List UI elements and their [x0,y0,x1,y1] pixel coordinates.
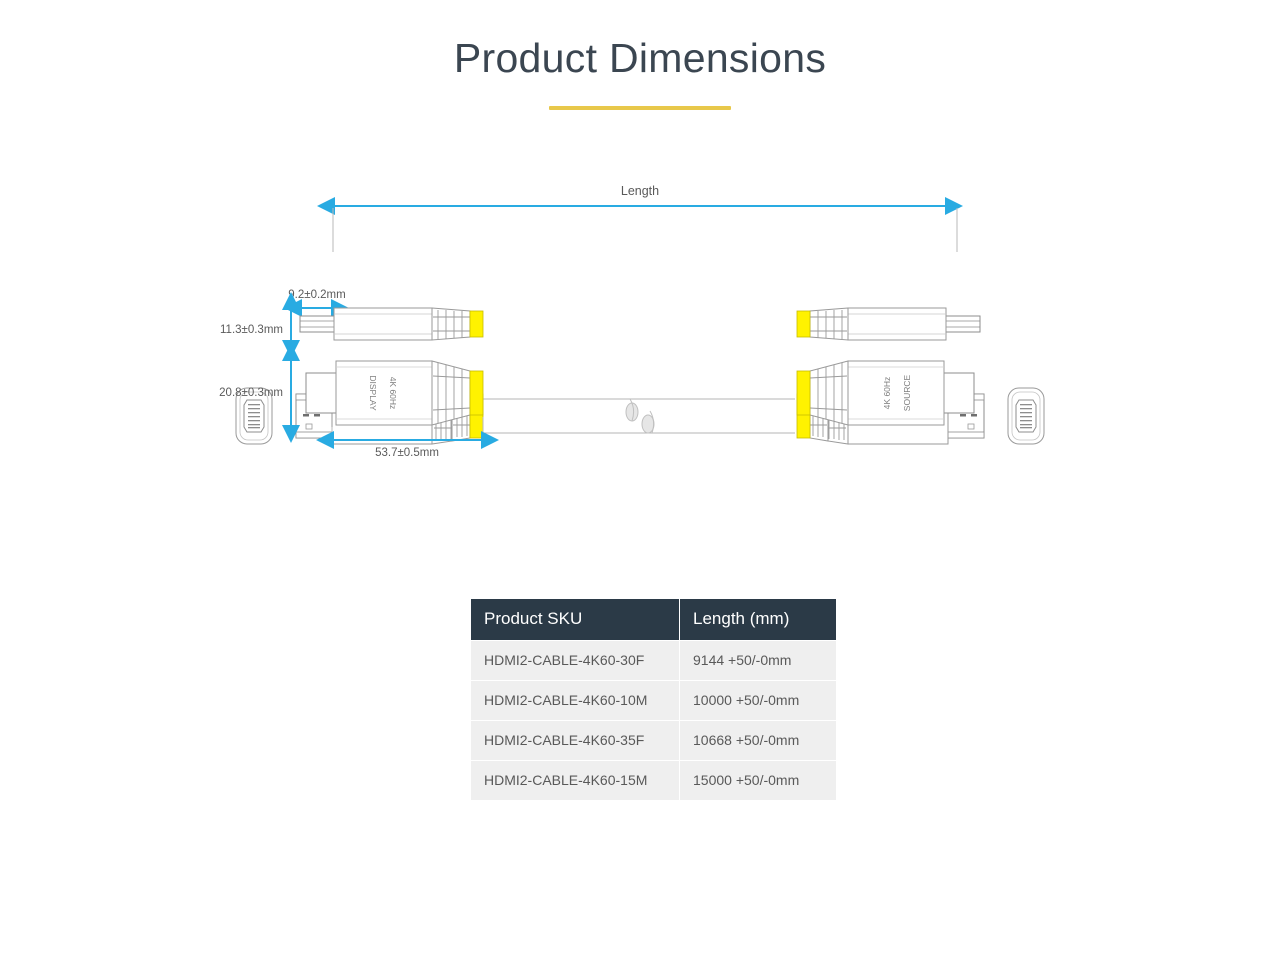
cable-break-symbol [626,399,654,433]
page-header: Product Dimensions [0,38,1280,110]
height-dimension-label: 20.8±0.3mm [219,387,283,399]
table-row: HDMI2-CABLE-4K60-15M 15000 +50/-0mm [471,761,836,800]
table-row: HDMI2-CABLE-4K60-10M 10000 +50/-0mm [471,681,836,720]
table-row: HDMI2-CABLE-4K60-35F 10668 +50/-0mm [471,721,836,760]
hdmi-port-endview-right [1008,388,1044,444]
cell-sku: HDMI2-CABLE-4K60-35F [471,721,680,760]
source-label: SOURCE [902,374,912,411]
cell-length: 10668 +50/-0mm [680,721,836,760]
cable-run [483,399,795,433]
width-dimension-label: 9.2±0.2mm [288,289,345,301]
cell-sku: HDMI2-CABLE-4K60-10M [471,681,680,720]
connector-sideview-right [797,308,980,340]
connector-sideview-left [300,308,483,340]
cell-length: 10000 +50/-0mm [680,681,836,720]
column-header-sku: Product SKU [471,599,680,640]
display-label: DISPLAY [368,375,378,411]
source-spec-label: 4K 60Hz [882,377,892,410]
display-spec-label: 4K 60Hz [388,377,398,410]
product-dimension-diagram: Length StarTech.com [0,160,1280,490]
cell-sku: HDMI2-CABLE-4K60-30F [471,641,680,680]
cell-sku: HDMI2-CABLE-4K60-15M [471,761,680,800]
cell-length: 9144 +50/-0mm [680,641,836,680]
length-dimension-label: Length [621,184,659,198]
title-underline-accent [549,106,731,110]
product-sku-table-container: Product SKU Length (mm) HDMI2-CABLE-4K60… [471,598,809,801]
thickness-dimension: 11.3±0.3mm [220,308,291,342]
cell-length: 15000 +50/-0mm [680,761,836,800]
table-header-row: Product SKU Length (mm) [471,599,836,640]
table-row: HDMI2-CABLE-4K60-30F 9144 +50/-0mm [471,641,836,680]
width-dimension: 9.2±0.2mm [288,289,345,308]
length-dimension: Length [333,184,957,252]
connector-length-label: 53.7±0.5mm [375,447,439,459]
thickness-dimension-label: 11.3±0.3mm [220,324,283,336]
product-sku-table: Product SKU Length (mm) HDMI2-CABLE-4K60… [471,598,836,801]
page-title: Product Dimensions [0,38,1280,79]
column-header-length: Length (mm) [680,599,836,640]
